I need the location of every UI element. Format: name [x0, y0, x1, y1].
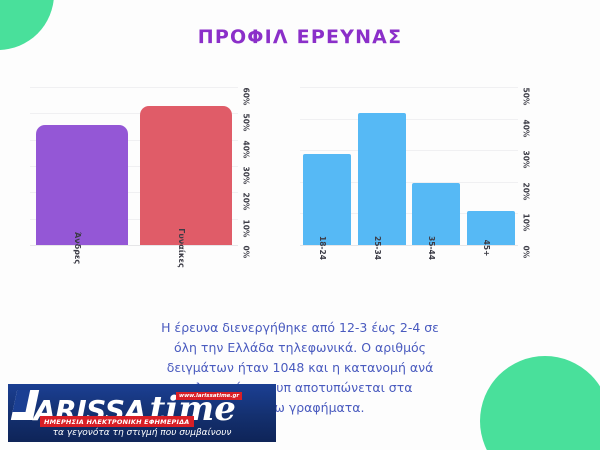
- chart-age-groups-plot-area: [300, 88, 518, 246]
- bar-18-24: [303, 154, 351, 246]
- y-tick-label: 30%: [242, 167, 251, 185]
- x-label-slot: 45+: [464, 246, 519, 288]
- y-tick-label: 50%: [522, 88, 531, 106]
- description-line-1: Η έρευνα διενεργήθηκε από 12-3 έως 2-4 σ…: [118, 318, 482, 338]
- chart-gender-y-tick-labels: 0%10%20%30%40%50%60%: [238, 88, 270, 246]
- chart-gender-plot-area: [30, 88, 238, 246]
- x-label-slot: Γυναίκες: [134, 246, 238, 288]
- x-tick-label: 45+: [482, 240, 491, 257]
- y-tick-label: 30%: [522, 151, 531, 169]
- x-tick-label: 35-44: [427, 236, 436, 260]
- y-tick-label: 10%: [242, 219, 251, 237]
- bar-Άνδρες: [36, 125, 128, 246]
- y-tick-label: 60%: [242, 88, 251, 106]
- y-tick-label: 40%: [522, 119, 531, 137]
- x-tick-label: Άνδρες: [73, 232, 82, 264]
- larissatime-logo: ARISSA time ΗΜΕΡΗΣΙΑ ΗΛΕΚΤΡΟΝΙΚΗ ΕΦΗΜΕΡΙ…: [8, 384, 276, 442]
- y-tick-label: 0%: [242, 246, 251, 259]
- bar-Γυναίκες: [140, 106, 232, 246]
- logo-website-url: www.larissatime.gr: [176, 392, 242, 400]
- y-tick-label: 50%: [242, 114, 251, 132]
- x-label-slot: 25-34: [355, 246, 410, 288]
- x-label-slot: 18-24: [300, 246, 355, 288]
- x-tick-label: Γυναίκες: [177, 228, 186, 267]
- decorative-circle-bottom-right: [480, 356, 600, 450]
- chart-age-groups-bars: [300, 88, 518, 246]
- y-tick-label: 10%: [522, 214, 531, 232]
- x-tick-label: 18-24: [318, 236, 327, 260]
- bar-slot: [409, 88, 464, 246]
- y-tick-label: 0%: [522, 246, 531, 259]
- bar-slot: [464, 88, 519, 246]
- x-tick-label: 25-34: [373, 236, 382, 260]
- chart-gender: 0%10%20%30%40%50%60% ΆνδρεςΓυναίκες: [30, 88, 270, 288]
- bar-25-34: [358, 113, 406, 246]
- description-line-2: όλη την Ελλάδα τηλεφωνικά. Ο αριθμός: [118, 338, 482, 358]
- description-line-3: δειγμάτων ήταν 1048 και η κατανομή ανά: [118, 358, 482, 378]
- y-tick-label: 20%: [522, 182, 531, 200]
- x-label-slot: 35-44: [409, 246, 464, 288]
- x-label-slot: Άνδρες: [30, 246, 134, 288]
- chart-age-groups-y-tick-labels: 0%10%20%30%40%50%: [518, 88, 550, 246]
- chart-gender-x-tick-labels: ΆνδρεςΓυναίκες: [30, 246, 238, 288]
- bar-slot: [300, 88, 355, 246]
- bar-slot: [134, 88, 238, 246]
- y-tick-label: 40%: [242, 140, 251, 158]
- chart-age-groups: 0%10%20%30%40%50% 18-2425-3435-4445+: [300, 88, 550, 288]
- bar-slot: [30, 88, 134, 246]
- logo-subtitle: ΗΜΕΡΗΣΙΑ ΗΛΕΚΤΡΟΝΙΚΗ ΕΦΗΜΕΡΙΔΑ: [40, 416, 194, 427]
- slide-title: ΠΡΟΦΙΛ ΕΡΕΥΝΑΣ: [0, 26, 600, 48]
- bar-35-44: [412, 183, 460, 246]
- chart-age-groups-x-tick-labels: 18-2425-3435-4445+: [300, 246, 518, 288]
- logo-tagline: τα γεγονότα τη στιγμή που συμβαίνουν: [8, 428, 276, 438]
- y-tick-label: 20%: [242, 193, 251, 211]
- presentation-slide: ΠΡΟΦΙΛ ΕΡΕΥΝΑΣ 0%10%20%30%40%50%60% Άνδρ…: [0, 0, 600, 450]
- bar-slot: [355, 88, 410, 246]
- chart-gender-bars: [30, 88, 238, 246]
